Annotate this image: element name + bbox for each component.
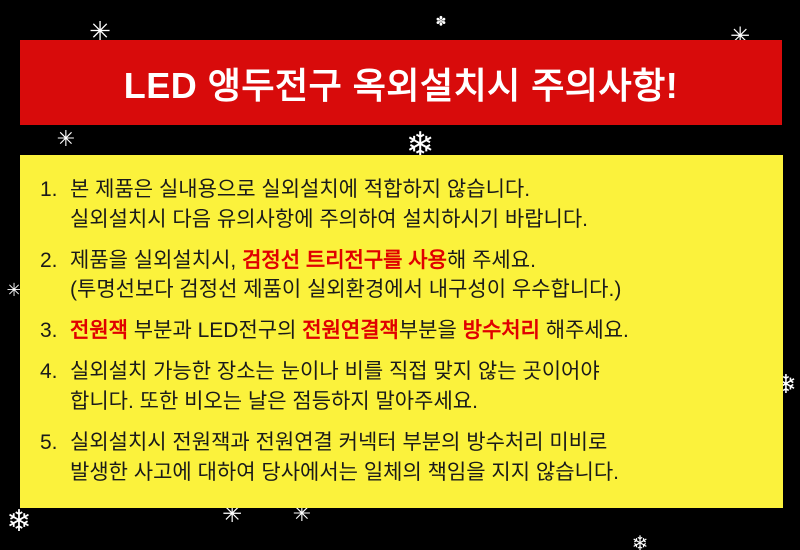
plain-text: (투명선보다 검정선 제품이 실외환경에서 내구성이 우수합니다.) [70,278,621,301]
notice-item: 1.본 제품은 실내용으로 실외설치에 적합하지 않습니다.실외설치시 다음 유… [40,175,767,235]
plain-text: 합니다. 또한 비오는 날은 점등하지 말아주세요. [70,390,478,413]
plain-text: 제품을 실외설치시, [70,249,242,272]
highlighted-text: 방수처리 [463,319,540,342]
plain-text: 실외설치시 전원잭과 전원연결 커넥터 부분의 방수처리 미비로 [70,431,607,454]
notice-item-line: 발생한 사고에 대하여 당사에서는 일체의 책임을 지지 않습니다. [70,458,767,488]
highlighted-text: 전원연결잭 [302,319,399,342]
notice-item-line: 전원잭 부분과 LED전구의 전원연결잭부분을 방수처리 해주세요. [70,316,767,346]
notice-item-text: 제품을 실외설치시, 검정선 트리전구를 사용해 주세요.(투명선보다 검정선 … [70,246,767,306]
title-banner: LED 앵두전구 옥외설치시 주의사항! [20,40,782,125]
plain-text: 해주세요. [540,319,629,342]
notice-item-line: (투명선보다 검정선 제품이 실외환경에서 내구성이 우수합니다.) [70,275,767,305]
notice-item-number: 1. [40,175,70,205]
page-title: LED 앵두전구 옥외설치시 주의사항! [124,57,679,109]
notice-item: 5.실외설치시 전원잭과 전원연결 커넥터 부분의 방수처리 미비로발생한 사고… [40,428,767,488]
notice-item-line: 실외설치 가능한 장소는 눈이나 비를 직접 맞지 않는 곳이어야 [70,357,767,387]
highlighted-text: 전원잭 [70,319,128,342]
notice-item-text: 본 제품은 실내용으로 실외설치에 적합하지 않습니다.실외설치시 다음 유의사… [70,175,767,235]
notice-list: 1.본 제품은 실내용으로 실외설치에 적합하지 않습니다.실외설치시 다음 유… [40,175,767,487]
plain-text: 부분을 [399,319,463,342]
notice-item-line: 합니다. 또한 비오는 날은 점등하지 말아주세요. [70,387,767,417]
snowflake-bottom-right-icon: ❄ [632,533,649,550]
notice-item-line: 제품을 실외설치시, 검정선 트리전구를 사용해 주세요. [70,246,767,276]
notice-item: 4.실외설치 가능한 장소는 눈이나 비를 직접 맞지 않는 곳이어야합니다. … [40,357,767,417]
snowflake-top-center-icon: ✽ [436,16,447,29]
notice-item-text: 실외설치 가능한 장소는 눈이나 비를 직접 맞지 않는 곳이어야합니다. 또한… [70,357,767,417]
notice-item-number: 5. [40,428,70,458]
notice-poster: ✳✽✳✳❄✳❄❄✳✳❄ LED 앵두전구 옥외설치시 주의사항! 1.본 제품은… [0,0,800,550]
notice-item-line: 본 제품은 실내용으로 실외설치에 적합하지 않습니다. [70,175,767,205]
notice-item-number: 4. [40,357,70,387]
plain-text: 해 주세요. [447,249,536,272]
snowflake-under-banner-left-icon: ✳ [57,129,75,151]
notice-item-text: 실외설치시 전원잭과 전원연결 커넥터 부분의 방수처리 미비로발생한 사고에 … [70,428,767,488]
plain-text: 부분과 LED전구의 [128,319,302,342]
plain-text: 본 제품은 실내용으로 실외설치에 적합하지 않습니다. [70,178,530,201]
snowflake-bottom-far-left-icon: ❄ [6,507,31,537]
notice-item: 2.제품을 실외설치시, 검정선 트리전구를 사용해 주세요.(투명선보다 검정… [40,246,767,306]
plain-text: 실외설치 가능한 장소는 눈이나 비를 직접 맞지 않는 곳이어야 [70,360,600,383]
notice-item: 3.전원잭 부분과 LED전구의 전원연결잭부분을 방수처리 해주세요. [40,316,767,346]
notice-item-line: 실외설치시 다음 유의사항에 주의하여 설치하시기 바랍니다. [70,205,767,235]
warning-list-panel: 1.본 제품은 실내용으로 실외설치에 적합하지 않습니다.실외설치시 다음 유… [20,155,783,508]
notice-item-number: 3. [40,316,70,346]
plain-text: 실외설치시 다음 유의사항에 주의하여 설치하시기 바랍니다. [70,208,588,231]
plain-text: 발생한 사고에 대하여 당사에서는 일체의 책임을 지지 않습니다. [70,461,619,484]
notice-item-line: 실외설치시 전원잭과 전원연결 커넥터 부분의 방수처리 미비로 [70,428,767,458]
notice-item-text: 전원잭 부분과 LED전구의 전원연결잭부분을 방수처리 해주세요. [70,316,767,346]
highlighted-text: 검정선 트리전구를 사용 [242,249,447,272]
notice-item-number: 2. [40,246,70,276]
